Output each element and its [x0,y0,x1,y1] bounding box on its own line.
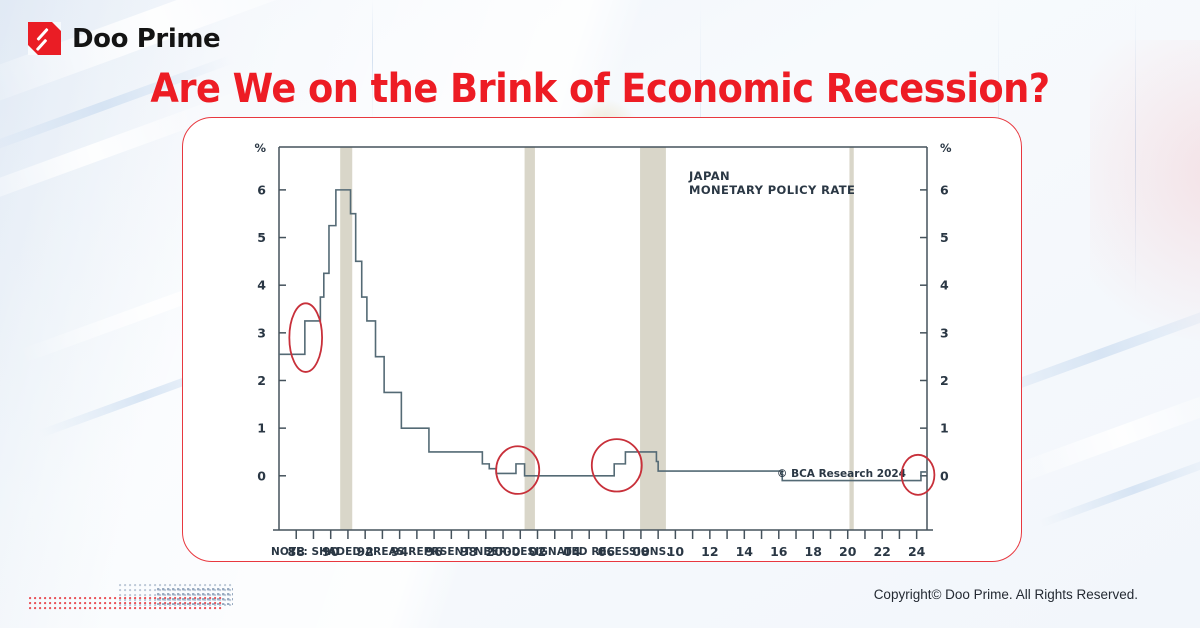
x-tick-label: 18 [805,544,822,559]
y-tick-label: 6 [257,182,266,197]
x-tick-label: 20 [839,544,857,559]
y-tick-label: 5 [257,230,266,245]
y-tick-label: 4 [257,278,266,293]
recession-band [640,147,666,530]
chart-card: 00112233445566%%889092949698200002040608… [182,117,1022,562]
x-tick-label: 24 [908,544,926,559]
chart-stage: 00112233445566%%889092949698200002040608… [183,118,1021,561]
y-tick-label-right: 2 [940,373,949,388]
footer-copyright: Copyright© Doo Prime. All Rights Reserve… [874,587,1138,602]
y-tick-label: 0 [257,468,266,483]
x-tick-label: 22 [873,544,890,559]
highlight-annotations [289,303,934,495]
highlight-ellipse [592,439,642,491]
doo-prime-logo-icon [28,22,61,55]
y-unit-right: % [940,141,952,155]
decorative-dots-blue-dense [157,588,233,605]
y-tick-label: 3 [257,325,266,340]
y-tick-label: 2 [257,373,266,388]
highlight-ellipse [289,303,322,372]
brand-logo[interactable]: Doo Prime [28,22,220,55]
y-tick-label-right: 3 [940,325,949,340]
chart-title: JAPAN [688,169,730,183]
y-tick-label-right: 4 [940,278,949,293]
chart-note: NOTE: SHADED AREAS REPRSENT NBER-DESIGNA… [271,546,670,558]
highlight-ellipse [902,455,935,495]
series-line [279,190,926,481]
x-tick-label: 14 [736,544,754,559]
y-axis: 00112233445566 [257,182,949,483]
policy-rate-chart: 00112233445566%%889092949698200002040608… [183,118,1023,563]
x-tick-label: 16 [770,544,788,559]
y-tick-label-right: 6 [940,182,949,197]
x-tick-label: 12 [701,544,718,559]
y-tick-label-right: 0 [940,468,949,483]
y-unit-left: % [254,141,266,155]
chart-subtitle: MONETARY POLICY RATE [689,183,855,197]
brand-name: Doo Prime [72,24,220,54]
y-tick-label-right: 1 [940,421,949,436]
chart-inline-title: JAPANMONETARY POLICY RATE [688,169,855,197]
y-tick-label: 1 [257,421,266,436]
y-tick-label-right: 5 [940,230,949,245]
chart-attribution: © BCA Research 2024 [777,468,906,480]
page-title: Are We on the Brink of Economic Recessio… [48,66,1152,112]
recession-band [525,147,535,530]
